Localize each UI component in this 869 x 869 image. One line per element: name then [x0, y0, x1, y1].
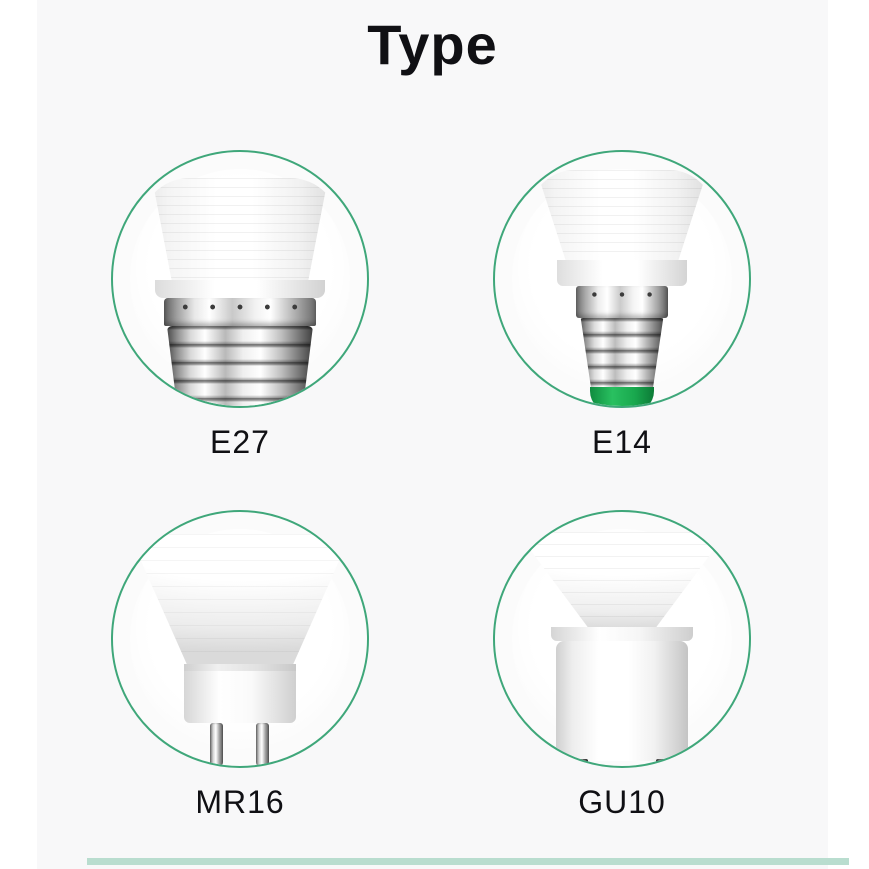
- bulb-dome-lip: [155, 280, 325, 298]
- bulb-pin-right: [646, 759, 676, 768]
- bulb-gu10-icon: [517, 532, 727, 768]
- bulb-type-label: GU10: [457, 784, 787, 821]
- bulb-collar: [576, 286, 668, 318]
- bulb-screw-thread: [579, 318, 665, 388]
- bulb-body: [556, 641, 688, 761]
- bulb-type-label: MR16: [75, 784, 405, 821]
- bulb-collar-dots: [576, 291, 668, 298]
- bulb-dome: [517, 532, 727, 628]
- bulb-mr16-icon: [129, 534, 351, 768]
- bulb-type-item-mr16[interactable]: MR16: [75, 510, 405, 821]
- bulb-dome-lip: [557, 260, 687, 286]
- bulb-pin-nub: [578, 759, 588, 768]
- bulb-e14-circle: [493, 150, 751, 408]
- bulb-screw-thread: [167, 326, 313, 408]
- bulb-base: [184, 671, 296, 723]
- bulb-type-label: E14: [457, 424, 787, 461]
- bulb-type-item-e14[interactable]: E14: [457, 150, 787, 461]
- bulb-e27-icon: [140, 178, 340, 408]
- bulb-pins: [556, 759, 688, 768]
- bulb-gu10-circle: [493, 510, 751, 768]
- bulb-green-tip: [590, 387, 654, 408]
- bulb-pin-right: [256, 723, 269, 767]
- bulb-pin-left: [568, 759, 598, 768]
- page-title: Type: [37, 14, 828, 76]
- content-panel: Type E27: [37, 0, 828, 869]
- bulb-type-item-gu10[interactable]: GU10: [457, 510, 787, 821]
- bulb-type-item-e27[interactable]: E27: [75, 150, 405, 461]
- bulb-dome: [140, 178, 340, 282]
- bottom-accent-bar: [87, 858, 849, 865]
- bulb-pin-left: [210, 723, 223, 767]
- bulb-e27-circle: [111, 150, 369, 408]
- bulb-reflector-cup: [129, 534, 351, 664]
- product-type-page: Type E27: [0, 0, 869, 869]
- bulb-collar-dots: [164, 303, 316, 311]
- bulb-mr16-circle: [111, 510, 369, 768]
- bulb-ring: [184, 664, 296, 671]
- bulb-type-label: E27: [75, 424, 405, 461]
- bulb-e14-icon: [529, 170, 715, 408]
- bulb-collar: [164, 298, 316, 326]
- bulb-pin-nub: [656, 759, 666, 768]
- bulb-dome: [529, 170, 715, 262]
- bulb-neck: [551, 627, 693, 641]
- bulb-pins: [184, 723, 296, 768]
